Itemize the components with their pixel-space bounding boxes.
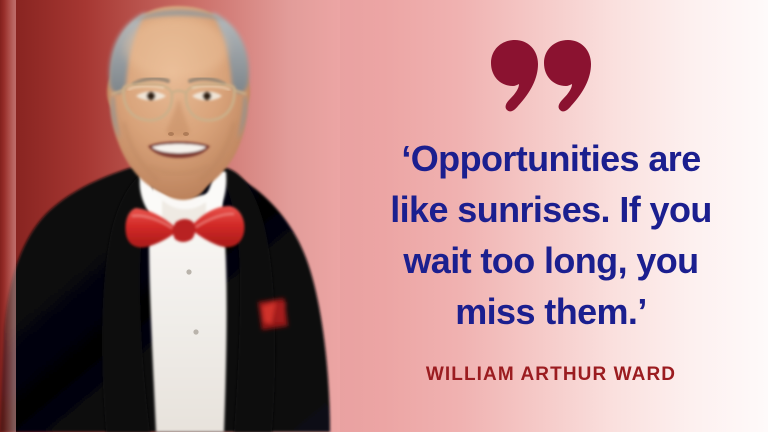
- quote-attribution: WILLIAM ARTHUR WARD: [372, 364, 730, 386]
- quote-line-2: like sunrises. If you: [372, 184, 730, 235]
- quote-line-4: miss them.’: [372, 286, 730, 337]
- portrait-image: [0, 0, 340, 432]
- portrait-illustration: [0, 0, 340, 432]
- quote-line-1: ‘Opportunities are: [372, 133, 730, 184]
- quote-line-3: wait too long, you: [372, 235, 730, 286]
- quote-glyph: [491, 40, 591, 114]
- nostril: [183, 132, 189, 136]
- shirt-stud: [186, 269, 191, 274]
- quote-text: ‘Opportunities are like sunrises. If you…: [372, 133, 730, 337]
- pocket-square: [258, 298, 288, 330]
- shirt-stud: [193, 329, 198, 334]
- forehead-highlight: [124, 18, 228, 78]
- double-quote-icon: [491, 40, 591, 114]
- quote-card: ‘Opportunities are like sunrises. If you…: [0, 0, 768, 432]
- nostril: [168, 132, 174, 136]
